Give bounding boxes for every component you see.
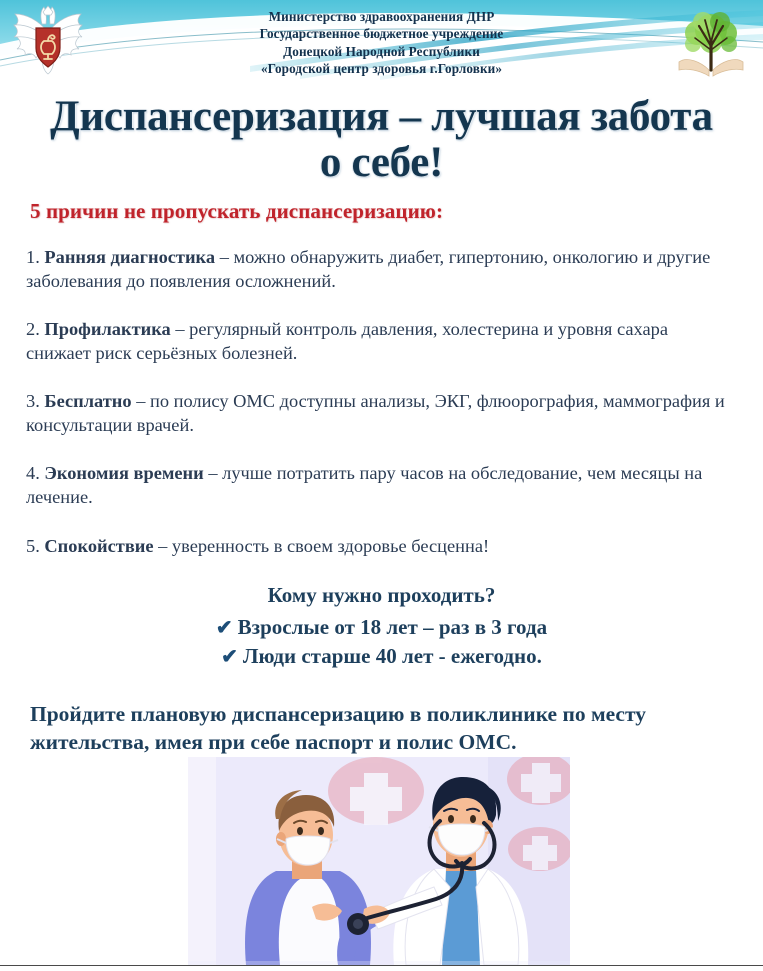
reason-number-1: 1.	[26, 247, 40, 267]
page-title: Диспансеризация – лучшая забота о себе!	[0, 94, 763, 185]
who-should-attend-section: Кому нужно проходить? ✔Взрослые от 18 ле…	[0, 583, 763, 671]
who-item-2-label: Люди старше 40 лет - ежегодно.	[243, 644, 542, 668]
green-tree-in-hands-icon	[667, 0, 755, 88]
org-line-4: «Городской центр здоровья г.Горловки»	[0, 60, 763, 77]
who-item-1-label: Взрослые от 18 лет – раз в 3 года	[238, 615, 547, 639]
org-line-2: Государственное бюджетное учреждение	[0, 25, 763, 42]
who-item-1: ✔Взрослые от 18 лет – раз в 3 года	[0, 613, 763, 642]
call-to-action-text: Пройдите плановую диспансеризацию в поли…	[30, 701, 733, 757]
org-line-3: Донецкой Народной Республики	[0, 43, 763, 60]
page-title-line-2: о себе!	[14, 140, 749, 186]
subheading-five-reasons: 5 причин не пропускать диспансеризацию:	[30, 199, 763, 224]
org-line-1: Министерство здравоохранения ДНР	[0, 8, 763, 25]
reason-lead-3: Бесплатно	[44, 391, 131, 411]
reason-item-3: 3. Бесплатно – по полису ОМС доступны ан…	[26, 390, 737, 437]
illustration-container	[188, 757, 570, 965]
doctor-examining-patient-with-stethoscope-illustration	[188, 757, 570, 965]
reason-number-2: 2.	[26, 319, 40, 339]
reason-text-5: – уверенность в своем здоровье бесценна!	[158, 536, 489, 556]
reason-item-1: 1. Ранняя диагностика – можно обнаружить…	[26, 246, 737, 293]
reason-lead-2: Профилактика	[44, 319, 170, 339]
reason-lead-4: Экономия времени	[44, 463, 203, 483]
reason-item-4: 4. Экономия времени – лучше потратить па…	[26, 462, 737, 509]
page-bottom-rule	[0, 965, 763, 966]
page-title-line-1: Диспансеризация – лучшая забота	[14, 94, 749, 140]
reasons-list: 1. Ранняя диагностика – можно обнаружить…	[26, 246, 737, 558]
reason-lead-1: Ранняя диагностика	[44, 247, 215, 267]
reason-lead-5: Спокойствие	[44, 536, 153, 556]
who-item-2: ✔Люди старше 40 лет - ежегодно.	[0, 642, 763, 671]
reason-number-3: 3.	[26, 391, 40, 411]
reason-item-5: 5. Спокойствие – уверенность в своем здо…	[26, 535, 737, 559]
check-icon: ✔	[216, 617, 233, 639]
header-org-text: Министерство здравоохранения ДНР Государ…	[0, 8, 763, 78]
check-icon: ✔	[221, 646, 238, 668]
reason-number-4: 4.	[26, 463, 40, 483]
dnr-eagle-emblem-icon	[6, 2, 90, 82]
who-section-title: Кому нужно проходить?	[0, 583, 763, 608]
page-header: Министерство здравоохранения ДНР Государ…	[0, 0, 763, 88]
reason-number-5: 5.	[26, 536, 40, 556]
shield-shape	[36, 28, 60, 67]
reason-item-2: 2. Профилактика – регулярный контроль да…	[26, 318, 737, 365]
